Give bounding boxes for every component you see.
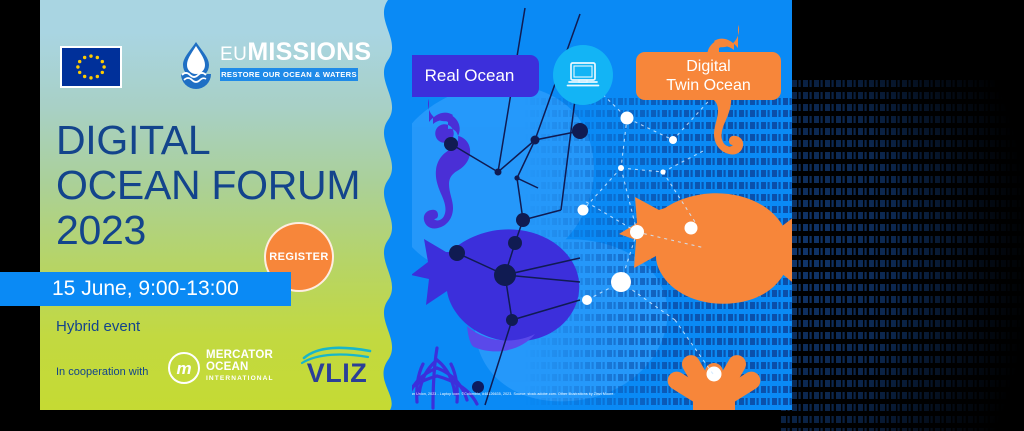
mercator-ocean-logo: m MERCATOR OCEAN INTERNATIONAL (168, 349, 286, 389)
title-line-3: 2023 (56, 208, 386, 253)
vliz-wordmark: VLIZ (298, 360, 376, 387)
ocean-illustration-panel: Real Ocean Digital Twin Ocean © European… (375, 0, 792, 410)
title-line-1: DIGITAL (56, 118, 386, 163)
laptop-icon (566, 61, 600, 89)
eu-missions-eu: EU (220, 44, 247, 65)
vliz-logo: VLIZ (298, 346, 376, 390)
event-info-panel: EUMISSIONS RESTORE OUR OCEAN & WATERS DI… (40, 0, 400, 410)
poster-canvas: Real Ocean Digital Twin Ocean © European… (0, 0, 1024, 431)
eu-missions-tagline-bar: RESTORE OUR OCEAN & WATERS (220, 68, 358, 81)
event-date-banner: 15 June, 9:00-13:00 (0, 272, 291, 306)
page-title: DIGITAL OCEAN FORUM 2023 (56, 118, 386, 253)
label-digital-twin-ocean[interactable]: Digital Twin Ocean (636, 52, 781, 100)
eu-missions-word: MISSIONS (247, 38, 371, 66)
mercator-line-1: MERCATOR (206, 350, 274, 362)
event-format: Hybrid event (56, 318, 140, 335)
digital-twin-line2: Twin Ocean (666, 76, 750, 95)
title-line-2: OCEAN FORUM (56, 163, 386, 208)
cooperation-label: In cooperation with (56, 366, 148, 378)
eu-missions-wordmark: EUMISSIONS (220, 38, 371, 67)
label-real-ocean[interactable]: Real Ocean (400, 55, 539, 97)
real-ocean-text: Real Ocean (425, 66, 515, 86)
mercator-mark-icon: m (168, 352, 200, 384)
event-date-text: 15 June, 9:00-13:00 (52, 277, 239, 301)
wave-divider (368, 0, 412, 410)
binary-bleed-background (780, 78, 1024, 431)
register-label: REGISTER (269, 251, 328, 263)
digital-twin-line1: Digital (666, 57, 750, 76)
mercator-mark-letter: m (176, 360, 191, 377)
mercator-line-3: INTERNATIONAL (206, 373, 274, 385)
mercator-line-2: OCEAN (206, 362, 274, 374)
eu-missions-tagline: RESTORE OUR OCEAN & WATERS (220, 68, 358, 81)
water-drop-wave-icon (178, 40, 214, 88)
eu-missions-logo: EUMISSIONS RESTORE OUR OCEAN & WATERS (178, 38, 358, 90)
laptop-icon-node[interactable] (553, 45, 613, 105)
eu-flag-icon (60, 46, 122, 88)
credit-line: © European Union, 2023 - Laptop icon: ©C… (395, 392, 785, 396)
